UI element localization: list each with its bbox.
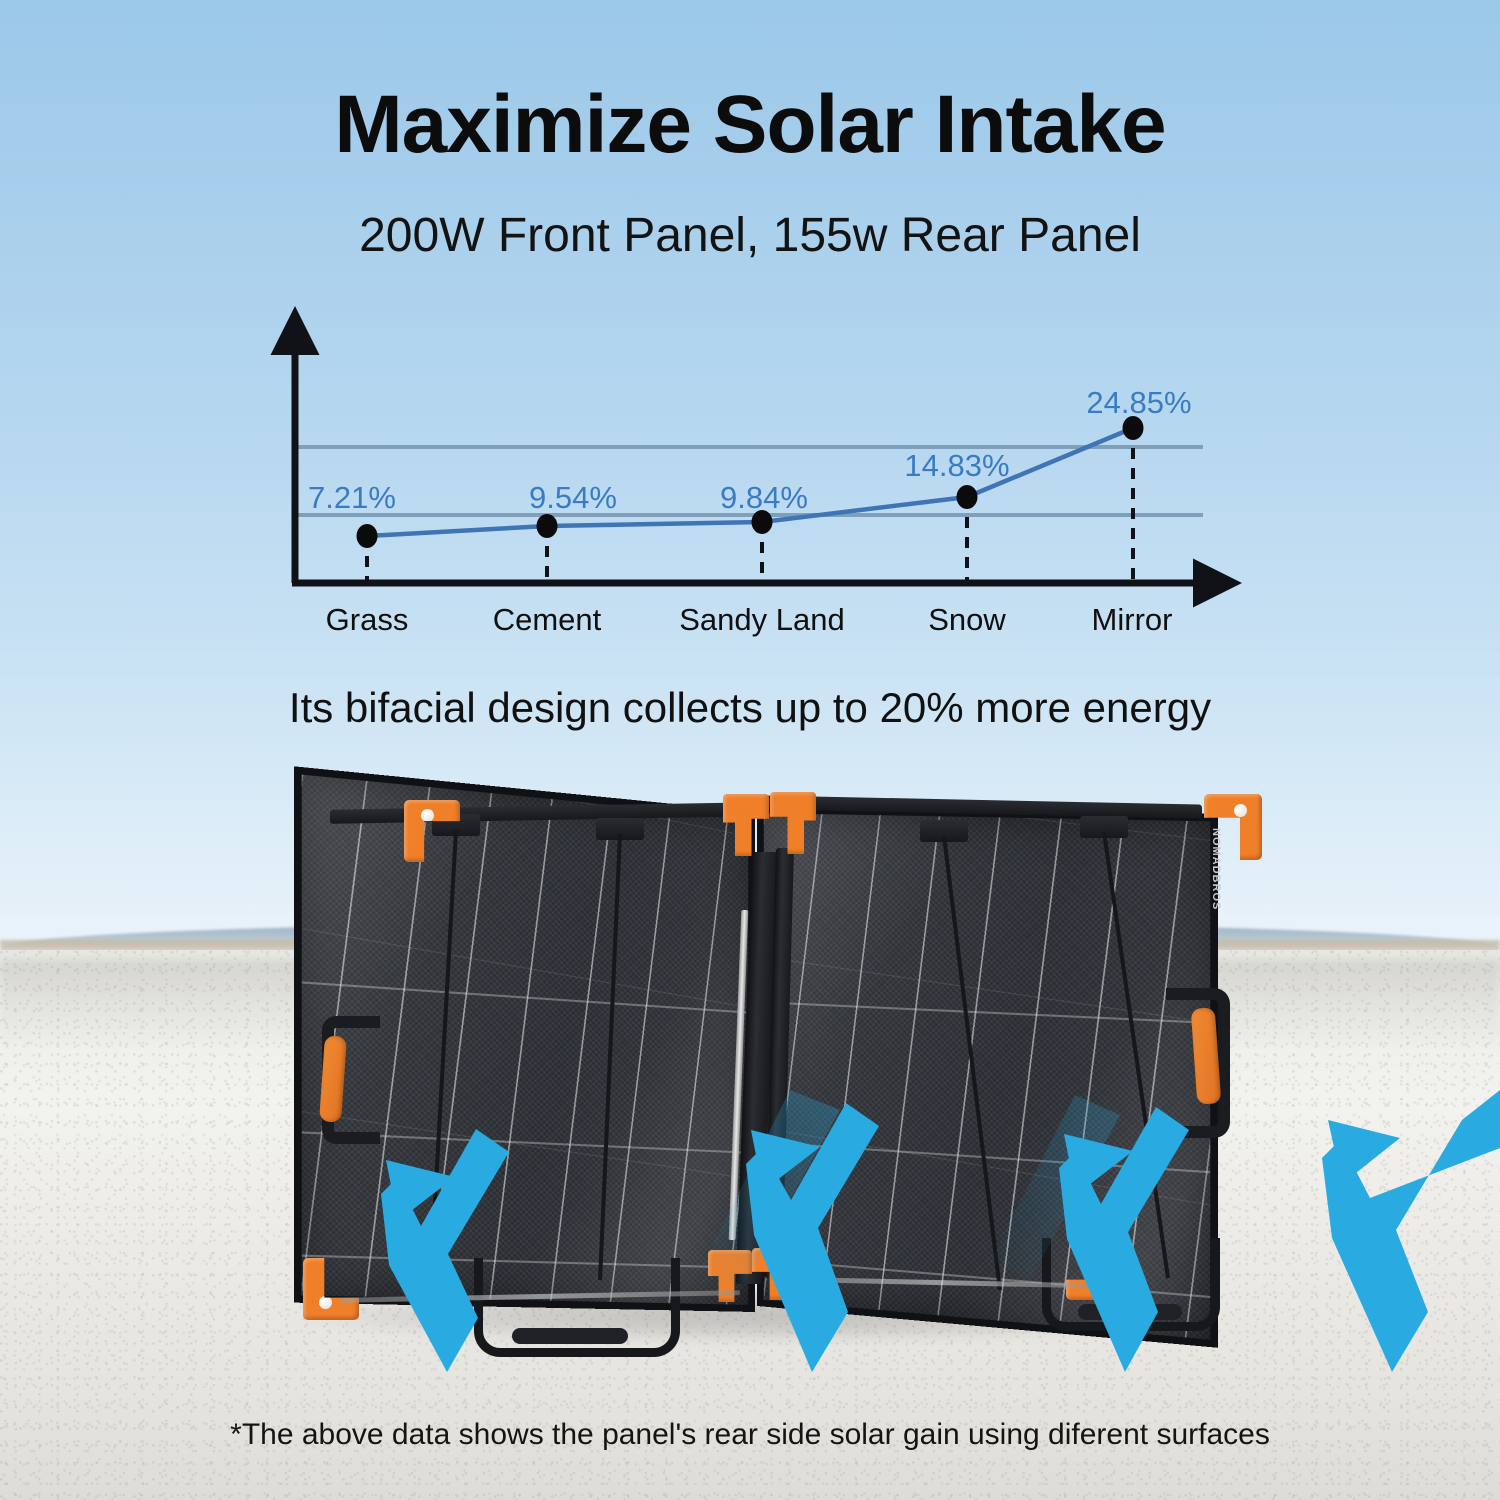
footnote-text: *The above data shows the panel's rear s… — [0, 1418, 1500, 1452]
reflected-light-arrows — [0, 0, 1500, 1500]
promo-page: Maximize Solar Intake 200W Front Panel, … — [0, 0, 1500, 1500]
